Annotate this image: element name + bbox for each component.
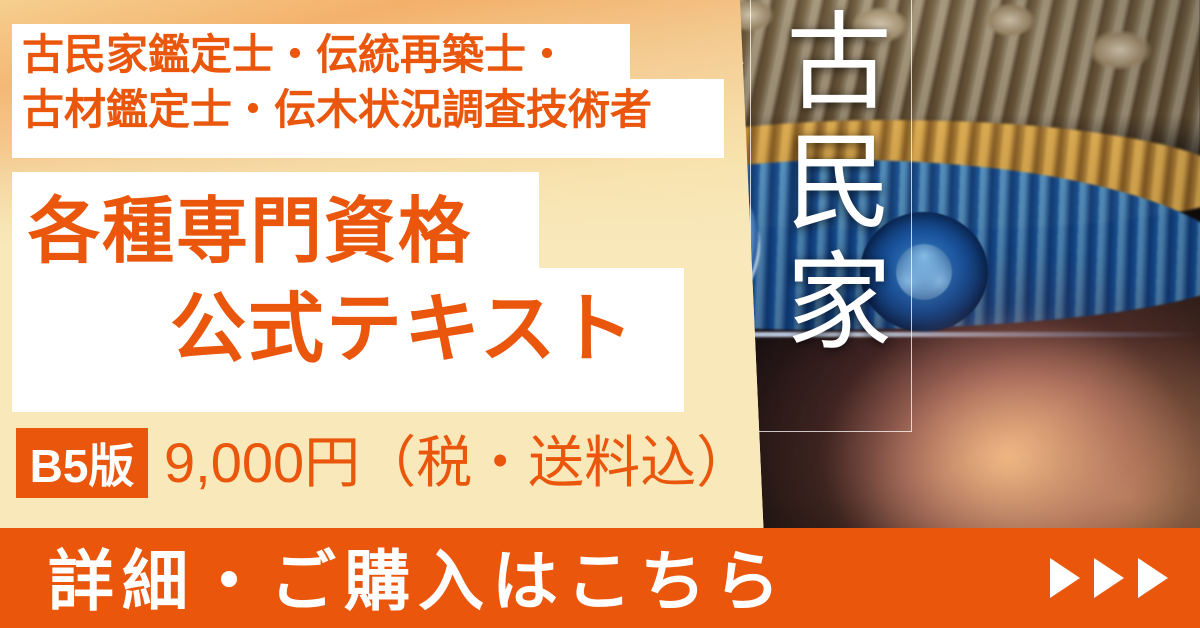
cta-label: 詳細・ご購入はこちら — [48, 528, 788, 624]
triangle-right-icon — [1094, 558, 1124, 598]
triangle-right-icon — [1138, 558, 1168, 598]
promo-banner: 伝統構法、 古民家活用のための調査と再生の 古民家 古民家鑑定士・伝統再築士・ … — [0, 0, 1200, 628]
triangle-right-icon — [1050, 558, 1080, 598]
qualifications-text: 古民家鑑定士・伝統再築士・ 古材鑑定士・伝木状況調査技術者 — [22, 27, 722, 138]
qualifications-line-2: 古材鑑定士・伝木状況調査技術者 — [22, 82, 722, 137]
qualifications-line-1: 古民家鑑定士・伝統再築士・ — [22, 27, 722, 82]
headline-line-2: 公式テキスト — [170, 292, 636, 368]
book-cover-title: 古民家 — [772, 6, 890, 426]
cta-arrows — [1050, 558, 1168, 598]
headline-line-1: 各種専門資格 — [28, 196, 472, 268]
cta-bar[interactable]: 詳細・ご購入はこちら — [0, 528, 1200, 628]
price-text: 9,000円（税・送料込） — [164, 432, 752, 494]
size-badge: B5版 — [16, 428, 148, 498]
